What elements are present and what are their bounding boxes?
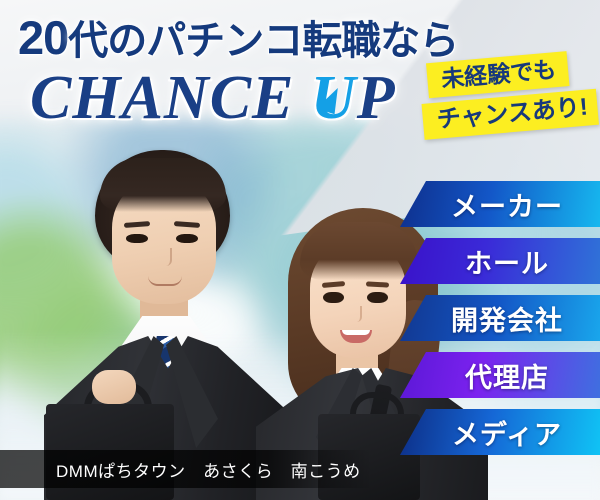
no-experience-badge: 未経験でも チャンスあり! (426, 49, 599, 140)
headline-chance-word: CHANCE (30, 64, 311, 132)
tag-media[interactable]: メディア (400, 409, 600, 455)
headline-age-number: 20 (18, 11, 68, 64)
man-nose (160, 248, 172, 266)
woman-eye-right (367, 292, 388, 303)
credit-strip: DMMぱちタウン あさくら 南こうめ (0, 450, 372, 488)
headline: 20代のパチンコ転職なら CHANCE UP (18, 14, 488, 129)
tag-agency-label: 代理店 (451, 356, 549, 395)
tag-agency[interactable]: 代理店 (400, 352, 600, 398)
tag-hall-label: ホール (451, 242, 549, 281)
man-eye-right (176, 234, 198, 243)
job-category-tag-list: メーカー ホール 開発会社 代理店 メディア (400, 181, 600, 466)
headline-line-1-text: 代のパチンコ転職なら (68, 19, 458, 63)
man-fringe (100, 158, 226, 212)
tag-maker[interactable]: メーカー (400, 181, 600, 227)
tag-maker-label: メーカー (437, 185, 563, 224)
man-mouth (148, 276, 182, 286)
headline-line-2: CHANCE UP (30, 67, 488, 129)
woman-eye-left (323, 292, 344, 303)
man-eye-left (126, 234, 148, 243)
woman-nose (352, 306, 362, 322)
tag-development-company[interactable]: 開発会社 (400, 295, 600, 341)
headline-line-1: 20代のパチンコ転職なら (18, 14, 488, 61)
tag-hall[interactable]: ホール (400, 238, 600, 284)
woman-teeth (342, 330, 370, 335)
man-hand (92, 370, 136, 404)
tag-media-label: メディア (438, 413, 562, 452)
credit-text: DMMぱちタウン あさくら 南こうめ (0, 457, 361, 482)
headline-up-p: P (357, 64, 396, 132)
tag-development-company-label: 開発会社 (437, 299, 563, 338)
recruitment-banner: 20代のパチンコ転職なら CHANCE UP 未経験でも チャンスあり! メーカ… (0, 0, 600, 500)
